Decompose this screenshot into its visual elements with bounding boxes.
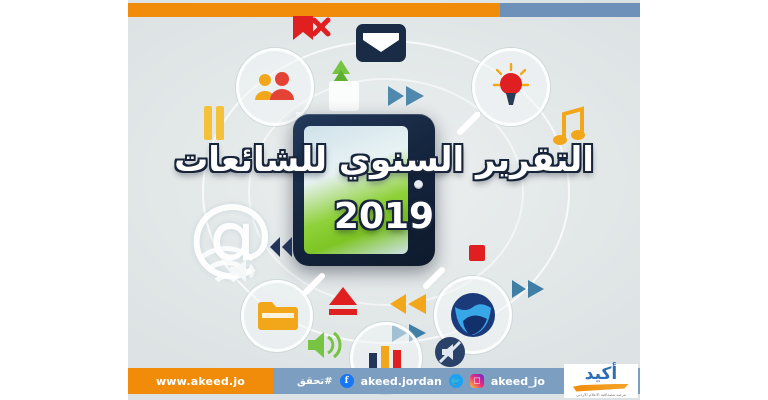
no-sound-icon [434, 336, 466, 368]
eject-icon [326, 284, 360, 318]
fast-forward-blue-icon-2 [510, 278, 550, 300]
logo-wordmark: أكيد [585, 366, 617, 383]
instagram-icon[interactable]: ◻ [470, 374, 484, 388]
rewind-orange-icon [386, 292, 430, 316]
poster-image: @ [128, 0, 640, 400]
envelope-icon [353, 20, 409, 66]
rewind-icon [268, 236, 294, 258]
facebook-icon[interactable]: f [340, 374, 354, 388]
lightbulb-search-icon [472, 48, 550, 126]
lightbulb-search-handle [454, 112, 480, 138]
tv-device [293, 114, 435, 266]
globe-search-handle [420, 266, 446, 292]
twitter-icon[interactable]: 🐦 [449, 374, 463, 388]
speaker-icon [228, 258, 264, 284]
akeed-logo[interactable]: أكيد مرصد مصداقية الاعلام الاردني [564, 364, 638, 398]
hashtag-label: #تحقق [297, 376, 333, 387]
speaker-green-icon [306, 330, 346, 360]
pause-icon [202, 106, 226, 140]
instagram-handle[interactable]: akeed_jo [491, 375, 545, 388]
website-url[interactable]: www.akeed.jo [128, 368, 273, 394]
facebook-handle[interactable]: akeed.jordan [361, 375, 442, 388]
top-color-bar [128, 3, 640, 17]
page-title: التقرير السنوي للشائعات [128, 140, 640, 180]
logo-subtitle: مرصد مصداقية الاعلام الاردني [576, 392, 626, 397]
logo-swoosh-icon [573, 384, 629, 392]
fast-forward-icon [386, 84, 430, 108]
top-bar-blue-segment [500, 3, 640, 17]
document-icon [328, 80, 362, 114]
bookmark-remove-icon [291, 14, 331, 44]
stop-icon [468, 244, 486, 262]
poster-page: @ [0, 0, 768, 400]
year-label: 2019 [128, 196, 640, 237]
folder-search-handle [300, 272, 326, 298]
